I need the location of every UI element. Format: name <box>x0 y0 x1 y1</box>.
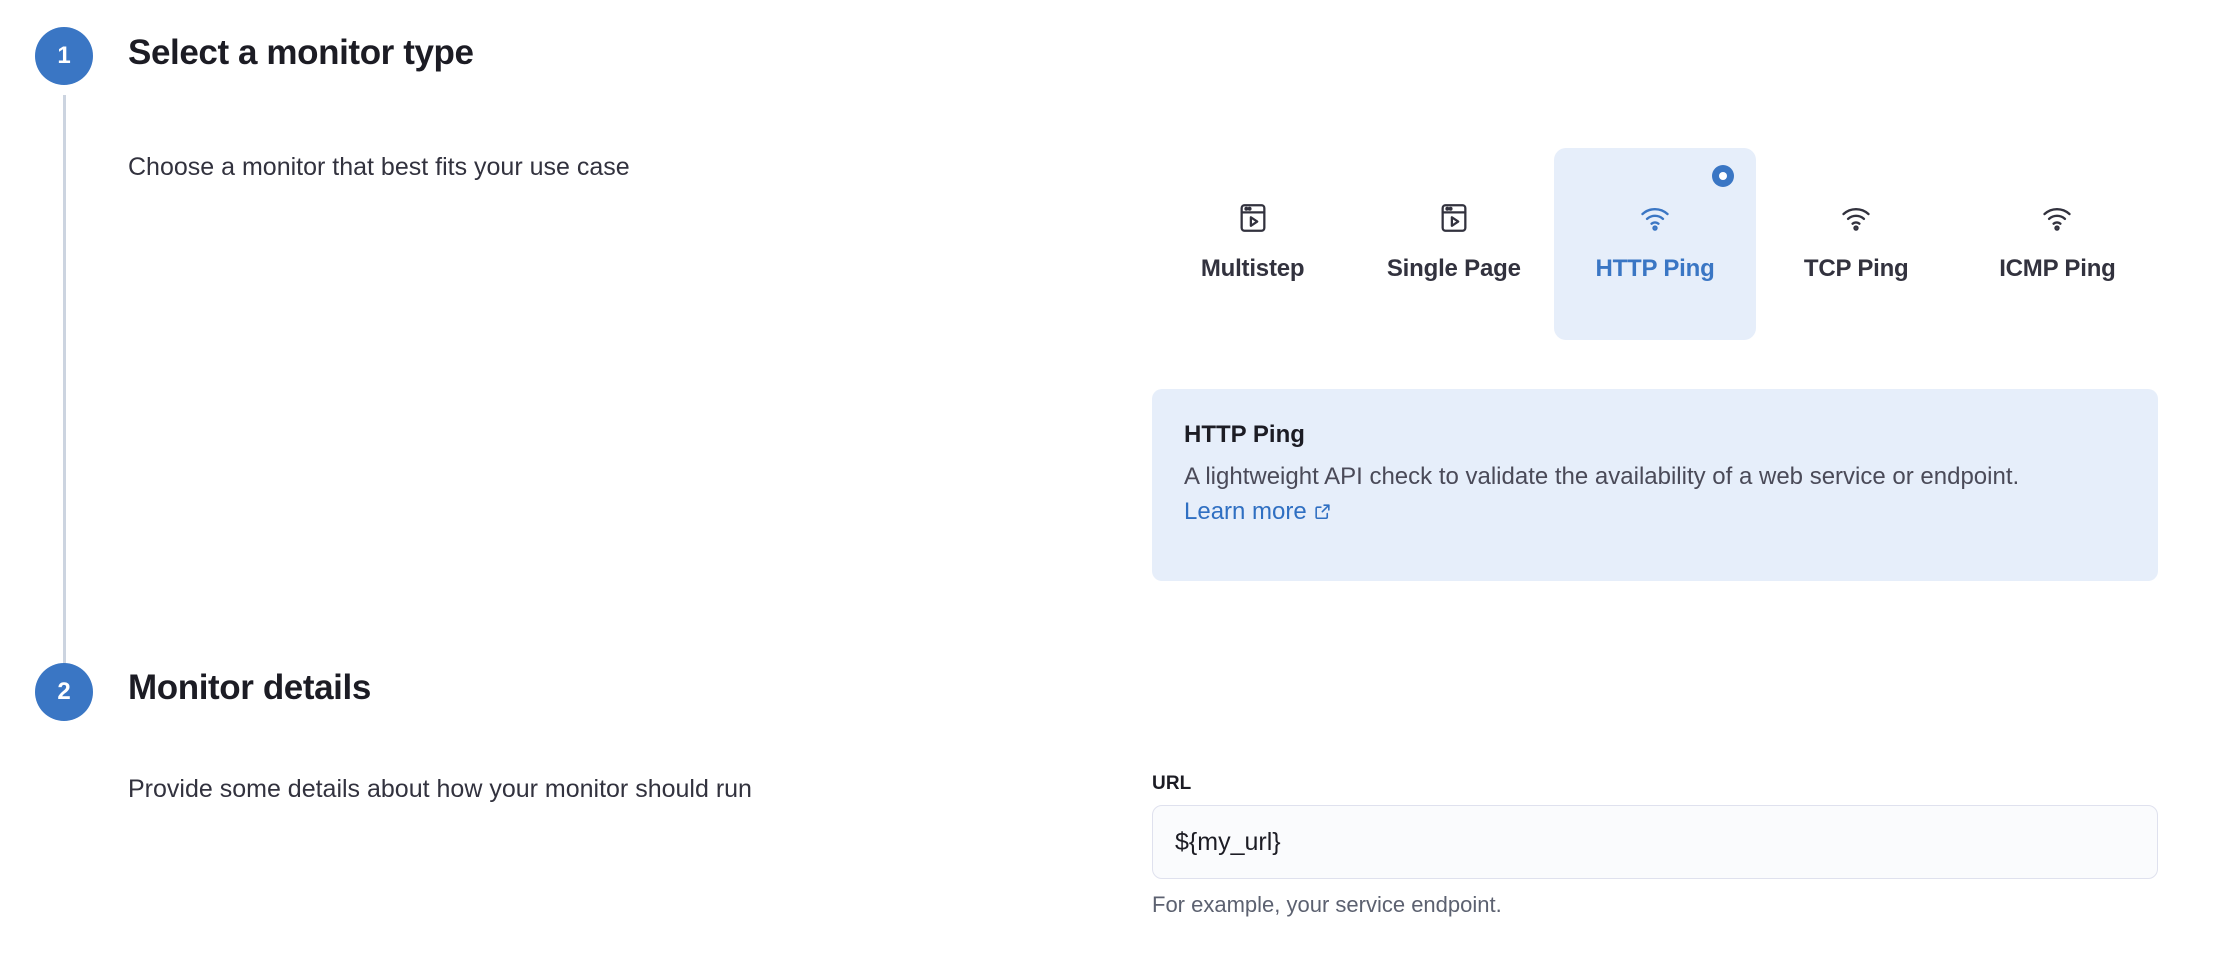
url-field-block: URL For example, your service endpoint. <box>1152 773 2158 918</box>
monitor-type-card-http-ping[interactable]: HTTP Ping <box>1554 148 1755 340</box>
monitor-type-card-tcp-ping[interactable]: TCP Ping <box>1756 148 1957 340</box>
monitor-type-label-http-ping: HTTP Ping <box>1595 255 1714 283</box>
info-panel-description: A lightweight API check to validate the … <box>1184 460 2124 530</box>
browser-play-icon <box>1236 201 1270 235</box>
monitor-type-card-single-page[interactable]: Single Page <box>1353 148 1554 340</box>
step-connector-line <box>63 95 66 675</box>
monitor-type-label-icmp-ping: ICMP Ping <box>1999 255 2115 283</box>
info-panel-description-text: A lightweight API check to validate the … <box>1184 463 2019 490</box>
monitor-type-label-single-page: Single Page <box>1387 255 1521 283</box>
monitor-type-label-tcp-ping: TCP Ping <box>1804 255 1909 283</box>
step-title-2: Monitor details <box>128 668 371 708</box>
wifi-ping-icon <box>2040 201 2074 235</box>
wifi-ping-icon <box>1638 201 1672 235</box>
browser-play-icon <box>1437 201 1471 235</box>
learn-more-label: Learn more <box>1184 498 1307 525</box>
radio-selected-icon[interactable] <box>1712 165 1734 187</box>
monitor-type-card-icmp-ping[interactable]: ICMP Ping <box>1957 148 2158 340</box>
step-badge-1: 1 <box>35 27 93 85</box>
learn-more-link[interactable]: Learn more <box>1184 498 1332 525</box>
wifi-ping-icon <box>1839 201 1873 235</box>
monitor-type-info-panel: HTTP Ping A lightweight API check to val… <box>1152 389 2158 581</box>
monitor-type-label-multistep: Multistep <box>1201 255 1305 283</box>
step-subtitle-2: Provide some details about how your moni… <box>128 775 752 804</box>
url-field-help-text: For example, your service endpoint. <box>1152 892 2158 918</box>
monitor-type-card-multistep[interactable]: Multistep <box>1152 148 1353 340</box>
url-field-label: URL <box>1152 773 2158 795</box>
info-panel-title: HTTP Ping <box>1184 419 2124 450</box>
step-subtitle-1: Choose a monitor that best fits your use… <box>128 153 630 182</box>
step-badge-2: 2 <box>35 663 93 721</box>
url-input[interactable] <box>1152 805 2158 879</box>
step-number-2: 2 <box>57 680 70 704</box>
step-number-1: 1 <box>57 44 70 68</box>
monitor-type-selector: Multistep Single Page HTTP Ping <box>1152 148 2158 340</box>
step-title-1: Select a monitor type <box>128 33 474 73</box>
external-link-icon <box>1313 497 1332 516</box>
